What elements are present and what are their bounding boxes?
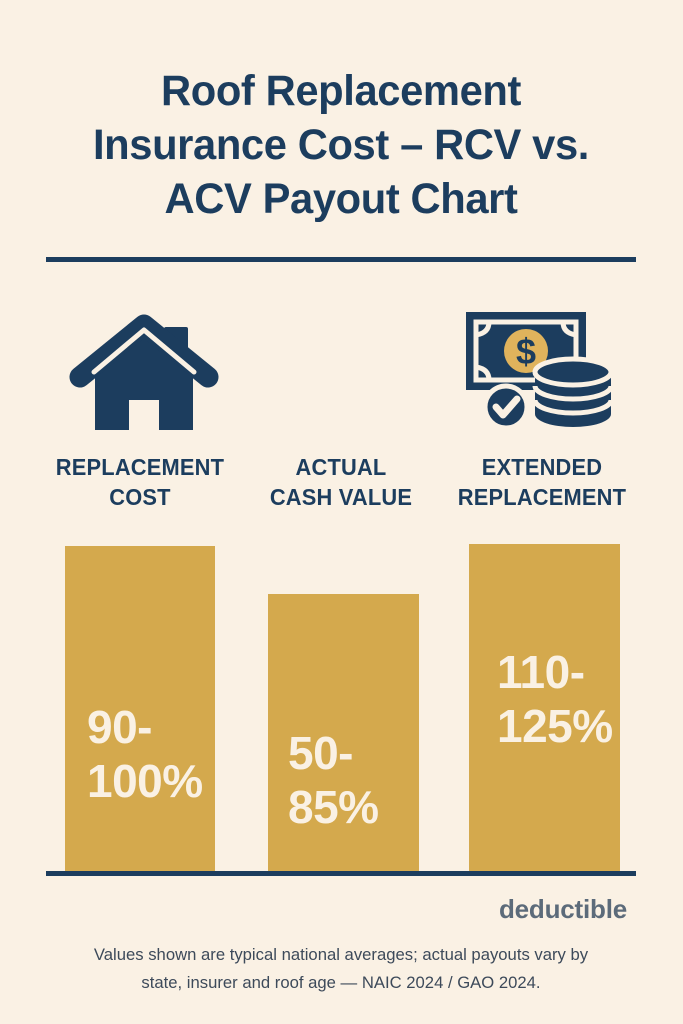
- column-label-line2: COST: [45, 482, 235, 512]
- footnote-line-2: state, insurer and roof age — NAIC 2024 …: [52, 969, 630, 997]
- title-line-3: ACV Payout Chart: [55, 172, 627, 226]
- bar-value-replacement-cost: 90- 100%: [87, 700, 203, 808]
- column-label-line1: ACTUAL: [246, 452, 436, 482]
- column-label-extended-replacement: EXTENDED REPLACEMENT: [447, 452, 637, 512]
- icon-slot-replacement-cost: [46, 305, 242, 430]
- title-divider: [46, 257, 636, 262]
- title-line-1: Roof Replacement: [55, 64, 627, 118]
- column-label-line2: CASH VALUE: [246, 482, 436, 512]
- column-label-line1: EXTENDED: [447, 452, 637, 482]
- svg-text:$: $: [516, 331, 536, 372]
- infographic-page: Roof Replacement Insurance Cost – RCV vs…: [0, 0, 683, 1024]
- icon-slot-extended-replacement: $: [440, 305, 636, 430]
- chart-baseline: [46, 871, 636, 876]
- icon-row: $: [46, 305, 636, 430]
- money-icon: $: [462, 308, 614, 430]
- bar-extended-replacement: [469, 544, 620, 873]
- bar-replacement-cost: [65, 546, 215, 873]
- column-label-line1: REPLACEMENT: [45, 452, 235, 482]
- page-title: Roof Replacement Insurance Cost – RCV vs…: [46, 64, 636, 226]
- icon-slot-actual-cash-value: [243, 305, 439, 430]
- column-label-actual-cash-value: ACTUAL CASH VALUE: [246, 452, 436, 512]
- bar-actual-cash-value: [268, 594, 419, 873]
- bar-value-actual-cash-value: 50- 85%: [288, 726, 379, 834]
- column-labels: REPLACEMENT COST ACTUAL CASH VALUE EXTEN…: [40, 452, 642, 516]
- title-line-2: Insurance Cost – RCV vs.: [55, 118, 627, 172]
- house-icon: [69, 314, 219, 430]
- baseline-label-deductible: deductible: [499, 893, 627, 925]
- footnote: Values shown are typical national averag…: [52, 941, 630, 997]
- bar-value-extended-replacement: 110- 125%: [497, 645, 613, 753]
- column-label-replacement-cost: REPLACEMENT COST: [45, 452, 235, 512]
- column-label-line2: REPLACEMENT: [447, 482, 637, 512]
- footnote-line-1: Values shown are typical national averag…: [52, 941, 630, 969]
